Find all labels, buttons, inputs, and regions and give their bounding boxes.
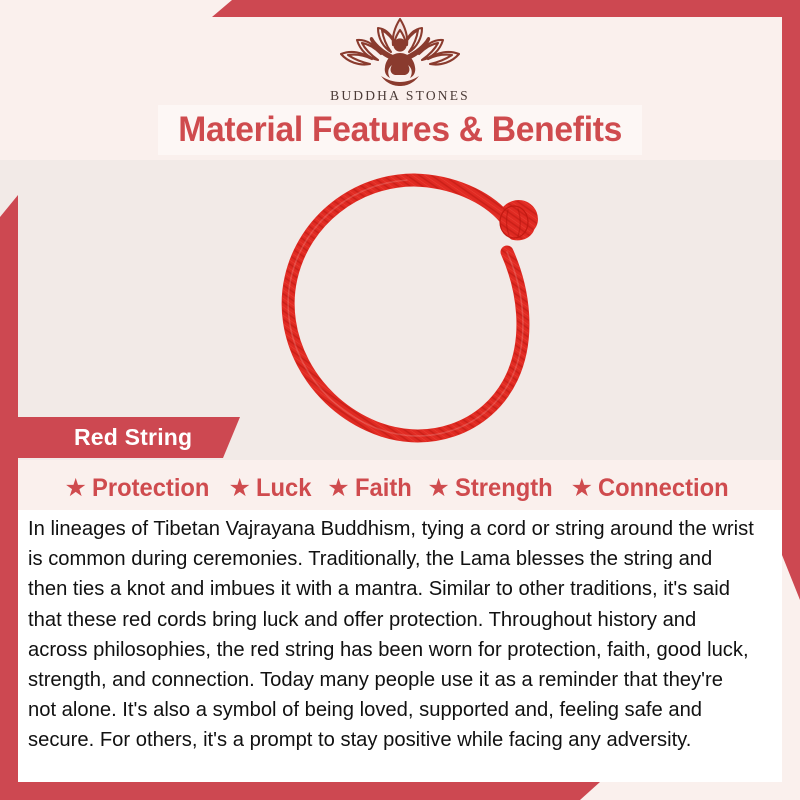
description-text: In lineages of Tibetan Vajrayana Buddhis… — [28, 514, 755, 756]
benefit-item-protection: ★ Protection — [64, 474, 215, 503]
star-icon: ★ — [64, 476, 86, 501]
lotus-meditation-icon — [315, 14, 485, 86]
star-icon: ★ — [229, 476, 251, 501]
brand-name: BUDDHA STONES — [0, 88, 800, 104]
benefits-row: ★ Protection ★ Luck ★ Faith ★ Strength ★… — [0, 466, 800, 510]
benefit-item-strength: ★ Strength — [427, 474, 557, 503]
page-title: Material Features & Benefits — [178, 110, 622, 150]
star-icon: ★ — [427, 476, 449, 501]
benefit-label: Faith — [355, 474, 412, 503]
benefit-label: Luck — [256, 474, 311, 503]
product-label: Red String — [18, 424, 192, 451]
benefit-label: Protection — [92, 474, 209, 503]
red-braided-cord-bracelet-image — [262, 172, 562, 452]
benefit-label: Strength — [455, 474, 553, 503]
star-icon: ★ — [327, 476, 349, 501]
benefit-label: Connection — [598, 474, 729, 503]
infographic-root: BUDDHA STONES Material Features & Benefi… — [0, 0, 800, 800]
benefit-item-connection: ★ Connection — [571, 474, 736, 503]
benefit-item-luck: ★ Luck — [229, 474, 315, 503]
benefit-item-faith: ★ Faith — [327, 474, 414, 503]
decorative-frame-bottom-bar — [0, 782, 620, 800]
product-label-banner: Red String — [18, 417, 240, 458]
star-icon: ★ — [571, 476, 593, 501]
title-banner: Material Features & Benefits — [158, 105, 642, 155]
description-panel: In lineages of Tibetan Vajrayana Buddhis… — [18, 510, 782, 782]
brand-logo: BUDDHA STONES — [0, 14, 800, 104]
